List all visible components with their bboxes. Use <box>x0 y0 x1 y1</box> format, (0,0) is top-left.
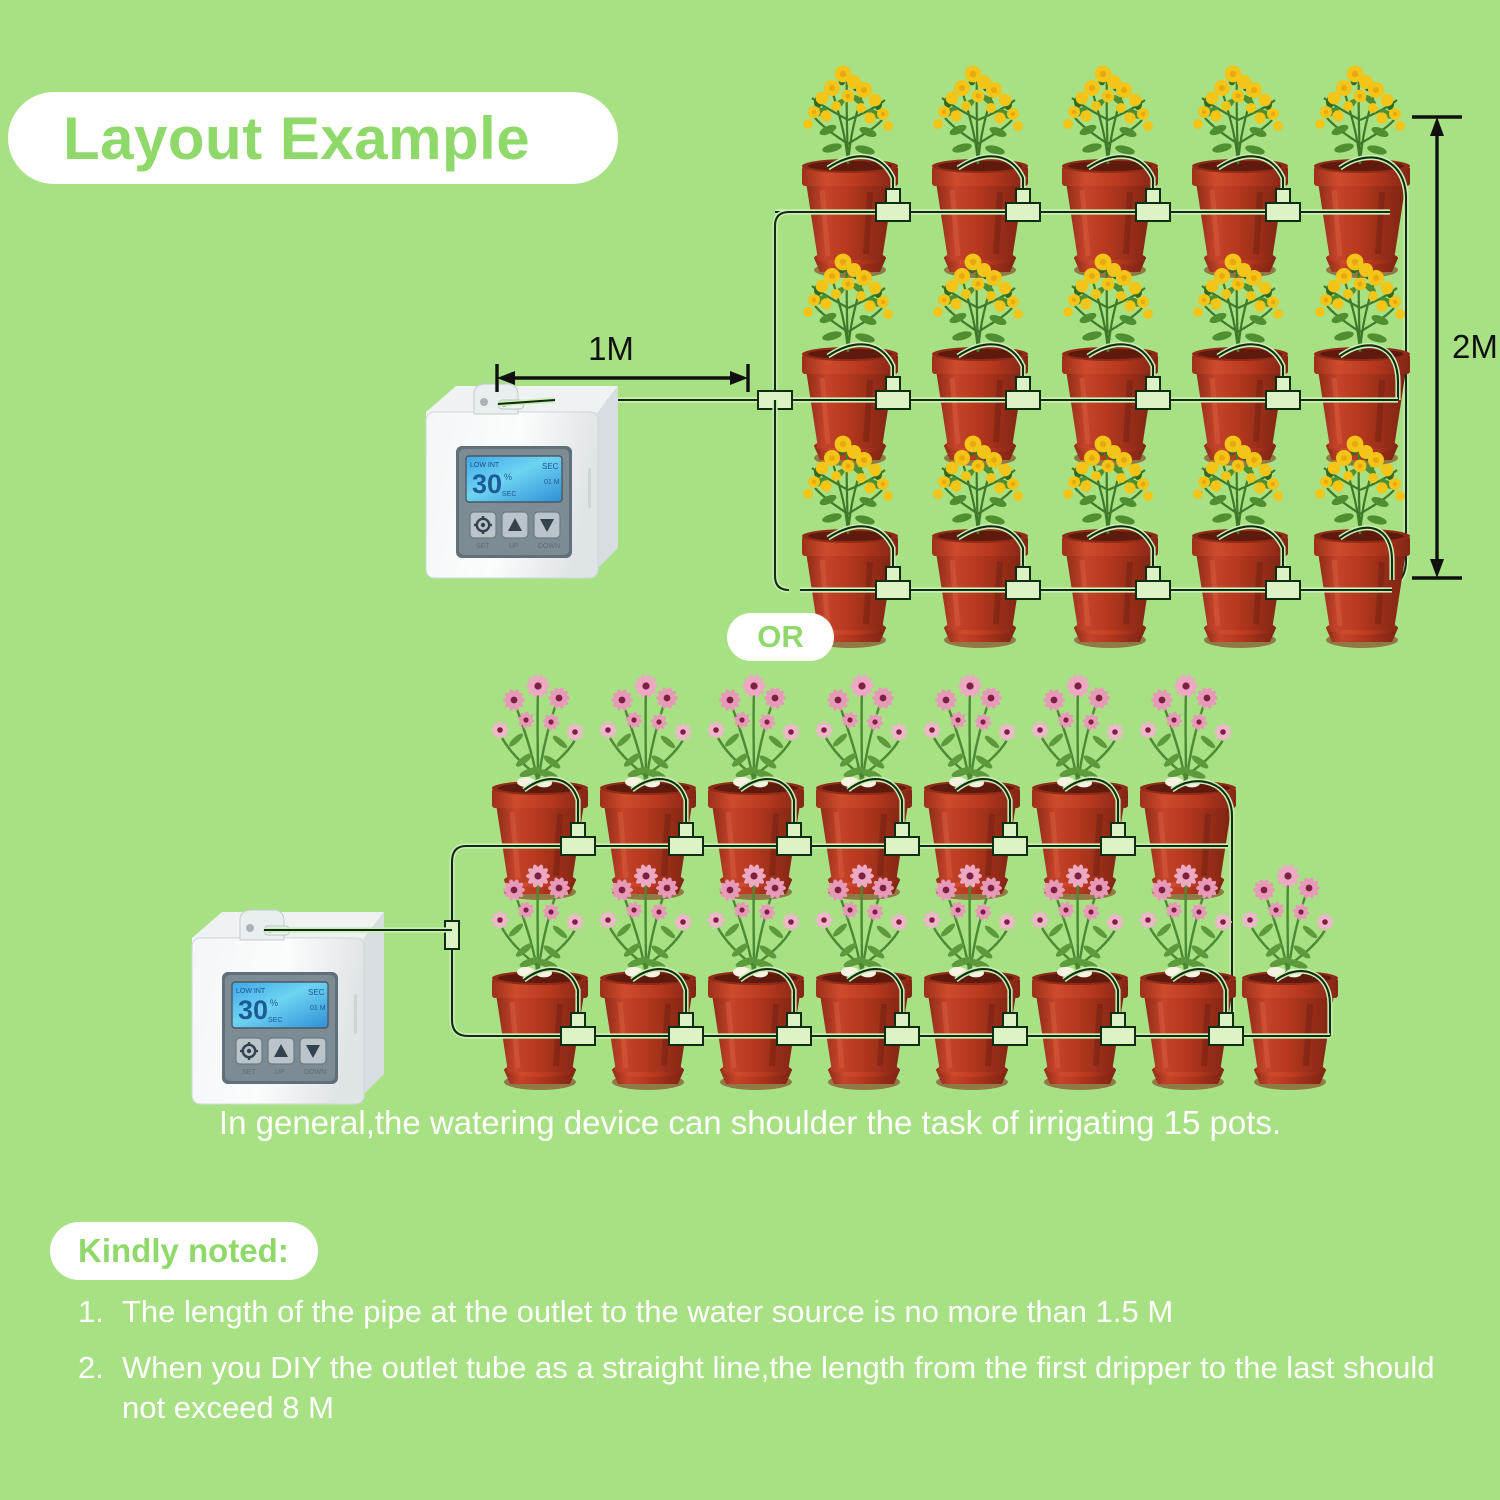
controller-device-b[interactable] <box>192 910 384 1104</box>
note-text: The length of the pipe at the outlet to … <box>122 1292 1173 1332</box>
pot-group-b-bottom <box>491 863 1338 1090</box>
dimension-2m: 2M <box>1412 117 1498 578</box>
controller-device-a[interactable] <box>426 384 618 578</box>
pot-group-row1 <box>802 66 1410 278</box>
or-badge: OR <box>727 613 834 661</box>
dimension-1m-label: 1M <box>588 330 634 367</box>
note-item: 2. When you DIY the outlet tube as a str… <box>78 1348 1468 1427</box>
or-label: OR <box>757 619 804 655</box>
layout-b-group <box>192 673 1338 1104</box>
note-text: When you DIY the outlet tube as a straig… <box>122 1348 1468 1427</box>
pot-group-row2 <box>802 254 1410 466</box>
note-number: 2. <box>78 1348 108 1427</box>
note-item: 1. The length of the pipe at the outlet … <box>78 1292 1458 1332</box>
note-number: 1. <box>78 1292 108 1332</box>
title-badge: Layout Example <box>8 92 618 184</box>
kindly-noted-badge: Kindly noted: <box>50 1222 318 1280</box>
pot-group-row3 <box>802 436 1410 648</box>
infographic-stage: LOW INT 30 % SEC SEC 01 M SET <box>0 0 1500 1500</box>
page-title: Layout Example <box>63 104 530 173</box>
kindly-noted-label: Kindly noted: <box>78 1232 289 1270</box>
general-note: In general,the watering device can shoul… <box>0 1104 1500 1142</box>
dimension-1m: 1M <box>497 330 748 392</box>
dimension-2m-label: 2M <box>1452 328 1498 365</box>
